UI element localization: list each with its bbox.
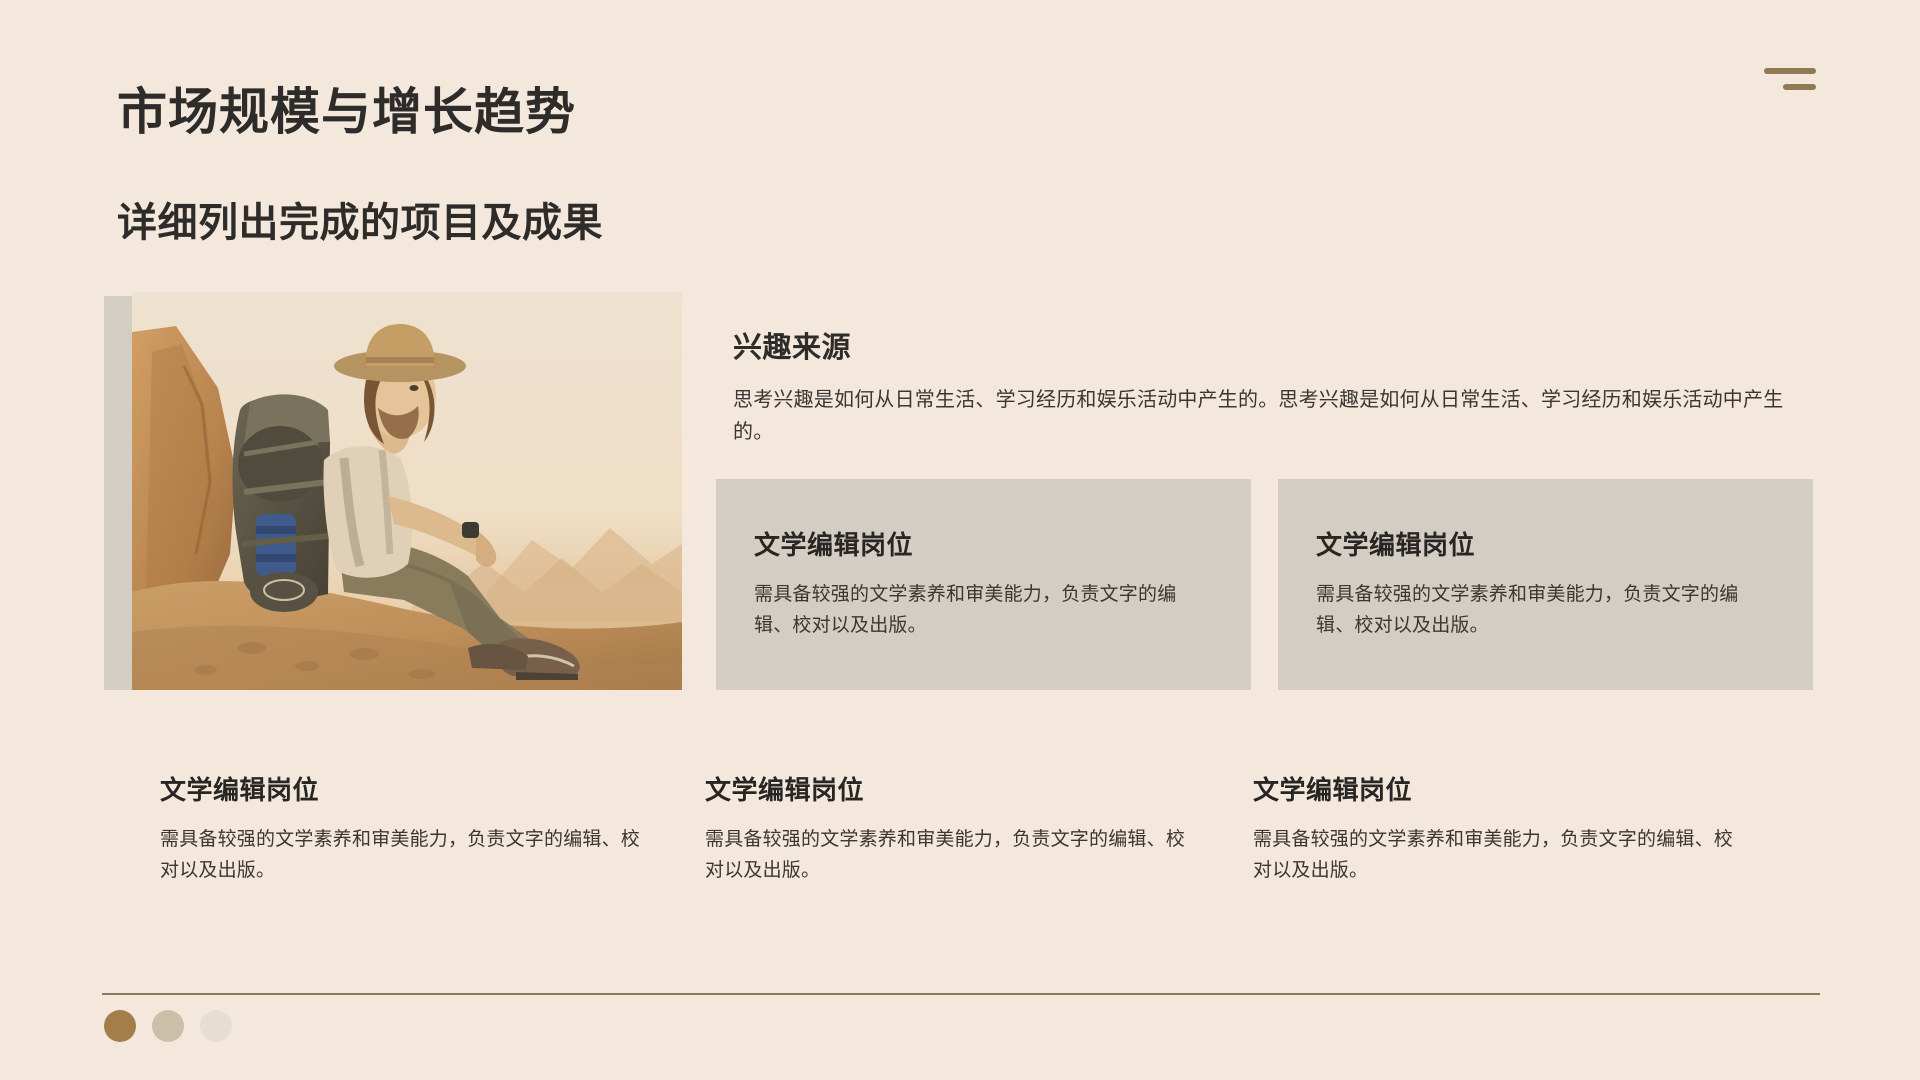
bottom-item-body: 需具备较强的文学素养和审美能力，负责文字的编辑、校对以及出版。 [1253, 825, 1741, 887]
card-title: 文学编辑岗位 [754, 525, 1213, 562]
hero-photo-illustration [132, 292, 682, 690]
bottom-row: 文学编辑岗位 需具备较强的文学素养和审美能力，负责文字的编辑、校对以及出版。 文… [160, 770, 1815, 887]
bottom-item-body: 需具备较强的文学素养和审美能力，负责文字的编辑、校对以及出版。 [160, 825, 648, 887]
bottom-item-body: 需具备较强的文学素养和审美能力，负责文字的编辑、校对以及出版。 [705, 825, 1193, 887]
card-group: 文学编辑岗位 需具备较强的文学素养和审美能力，负责文字的编辑、校对以及出版。 文… [716, 479, 1813, 690]
bottom-item-title: 文学编辑岗位 [705, 770, 1193, 807]
card-item[interactable]: 文学编辑岗位 需具备较强的文学素养和审美能力，负责文字的编辑、校对以及出版。 [716, 479, 1251, 690]
hamburger-bar-top [1764, 68, 1816, 74]
hero-photo [132, 292, 682, 690]
card-title: 文学编辑岗位 [1316, 525, 1775, 562]
card-item[interactable]: 文学编辑岗位 需具备较强的文学素养和审美能力，负责文字的编辑、校对以及出版。 [1278, 479, 1813, 690]
bottom-item-title: 文学编辑岗位 [160, 770, 648, 807]
page-dot-2[interactable] [152, 1010, 184, 1042]
slide-canvas: 市场规模与增长趋势 详细列出完成的项目及成果 [0, 0, 1920, 1080]
bottom-item[interactable]: 文学编辑岗位 需具备较强的文学素养和审美能力，负责文字的编辑、校对以及出版。 [1253, 770, 1801, 887]
card-body: 需具备较强的文学素养和审美能力，负责文字的编辑、校对以及出版。 [754, 580, 1213, 642]
page-title: 市场规模与增长趋势 [117, 84, 576, 142]
page-dot-active[interactable] [104, 1010, 136, 1042]
bottom-item-title: 文学编辑岗位 [1253, 770, 1741, 807]
intro-block: 兴趣来源 思考兴趣是如何从日常生活、学习经历和娱乐活动中产生的。思考兴趣是如何从… [733, 324, 1813, 449]
intro-body: 思考兴趣是如何从日常生活、学习经历和娱乐活动中产生的。思考兴趣是如何从日常生活、… [733, 384, 1805, 449]
bottom-item[interactable]: 文学编辑岗位 需具备较强的文学素养和审美能力，负责文字的编辑、校对以及出版。 [705, 770, 1253, 887]
footer-divider [102, 993, 1820, 995]
bottom-item[interactable]: 文学编辑岗位 需具备较强的文学素养和审美能力，负责文字的编辑、校对以及出版。 [160, 770, 708, 887]
card-body: 需具备较强的文学素养和审美能力，负责文字的编辑、校对以及出版。 [1316, 580, 1775, 642]
page-dot-3[interactable] [200, 1010, 232, 1042]
pagination-dots [104, 1010, 232, 1042]
hamburger-menu-icon[interactable] [1764, 68, 1816, 94]
intro-title: 兴趣来源 [733, 324, 1813, 366]
page-subtitle: 详细列出完成的项目及成果 [117, 200, 603, 246]
hamburger-bar-bottom [1783, 84, 1816, 90]
